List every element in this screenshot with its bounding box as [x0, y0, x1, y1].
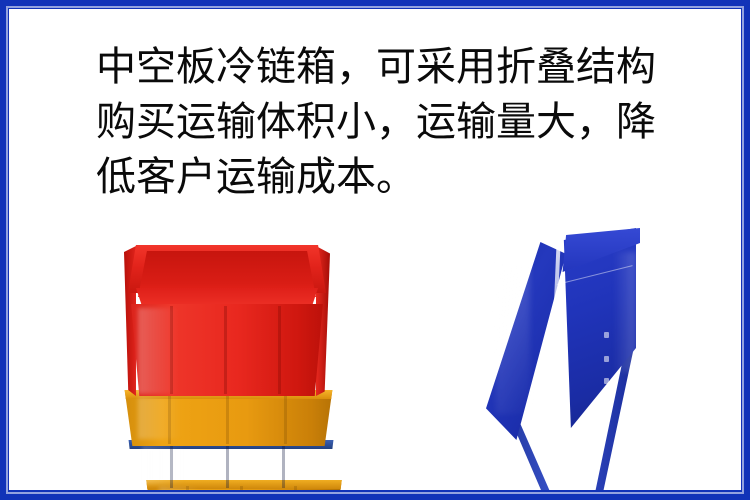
- panel-notch: [604, 356, 609, 362]
- crate-rib: [282, 446, 285, 488]
- crate-highlight: [138, 397, 182, 440]
- stacked-plastic-crates: [112, 242, 352, 500]
- caption-line-1: 中空板冷链箱，可采用折叠结构: [96, 40, 716, 95]
- crate-rib: [284, 396, 287, 444]
- panel-highlight: [496, 264, 530, 414]
- frame-border-right: [741, 0, 750, 500]
- product-banner-image: 中空板冷链箱，可采用折叠结构 购买运输体积小，运输量大，降 低客户运输成本。: [0, 0, 750, 500]
- frame-border-top: [0, 0, 750, 9]
- panel-notch: [604, 332, 609, 338]
- crate-rib: [224, 306, 227, 394]
- crate-highlight: [138, 308, 178, 394]
- crate-rib: [278, 306, 281, 394]
- crate-highlight: [142, 446, 186, 484]
- crate-band-blue: [122, 440, 340, 490]
- frame-border-bottom: [0, 490, 750, 500]
- frame-border-left: [0, 0, 9, 500]
- panel-highlight: [614, 252, 636, 372]
- crate-rib: [226, 396, 229, 444]
- panel-notch: [604, 378, 609, 384]
- caption-text: 中空板冷链箱，可采用折叠结构 购买运输体积小，运输量大，降 低客户运输成本。: [96, 40, 716, 205]
- folded-hollow-board-box: [486, 224, 666, 500]
- caption-line-2: 购买运输体积小，运输量大，降: [96, 95, 716, 150]
- crate-rib: [226, 446, 229, 488]
- crate-red-open-top: [112, 242, 342, 402]
- caption-line-3: 低客户运输成本。: [96, 150, 716, 205]
